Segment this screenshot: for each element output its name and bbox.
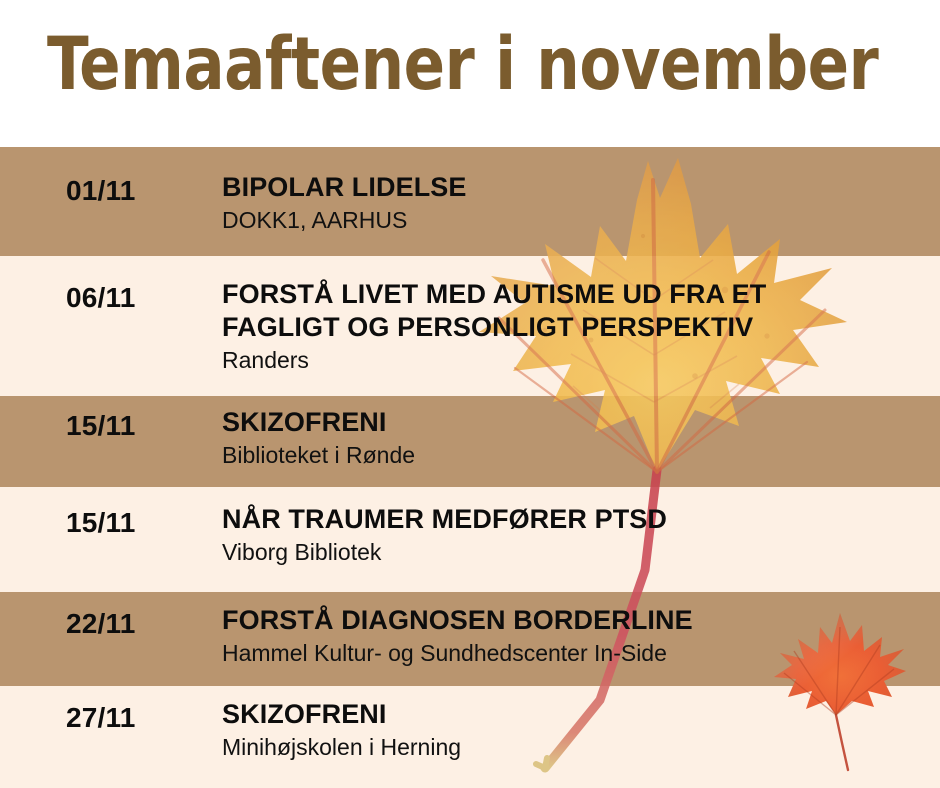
event-place: Viborg Bibliotek: [222, 538, 930, 567]
event-info: FORSTÅ LIVET MED AUTISME UD FRA ET FAGLI…: [222, 278, 930, 375]
event-date: 01/11: [66, 175, 136, 207]
list-item[interactable]: 22/11 FORSTÅ DIAGNOSEN BORDERLINE Hammel…: [0, 592, 940, 686]
event-title: FORSTÅ LIVET MED AUTISME UD FRA ET FAGLI…: [222, 278, 930, 344]
poster: Temaaftener i november 01/11 BIPOLAR LID…: [0, 0, 940, 788]
event-place: Minihøjskolen i Herning: [222, 733, 930, 762]
event-date: 15/11: [66, 410, 136, 442]
event-title: SKIZOFRENI: [222, 406, 930, 439]
page-title: Temaaftener i november: [47, 28, 878, 101]
event-info: FORSTÅ DIAGNOSEN BORDERLINE Hammel Kultu…: [222, 604, 930, 668]
list-item[interactable]: 15/11 SKIZOFRENI Biblioteket i Rønde: [0, 396, 940, 487]
event-date: 22/11: [66, 608, 136, 640]
event-date: 15/11: [66, 507, 136, 539]
event-title: NÅR TRAUMER MEDFØRER PTSD: [222, 503, 930, 536]
event-date: 06/11: [66, 282, 136, 314]
event-place: Randers: [222, 346, 930, 375]
event-date: 27/11: [66, 702, 136, 734]
event-title: SKIZOFRENI: [222, 698, 930, 731]
event-info: NÅR TRAUMER MEDFØRER PTSD Viborg Bibliot…: [222, 503, 930, 567]
event-info: SKIZOFRENI Minihøjskolen i Herning: [222, 698, 930, 762]
event-info: SKIZOFRENI Biblioteket i Rønde: [222, 406, 930, 470]
list-item[interactable]: 27/11 SKIZOFRENI Minihøjskolen i Herning: [0, 686, 940, 788]
event-place: Hammel Kultur- og Sundhedscenter In-Side: [222, 639, 930, 668]
list-item[interactable]: 06/11 FORSTÅ LIVET MED AUTISME UD FRA ET…: [0, 256, 940, 396]
list-item[interactable]: 01/11 BIPOLAR LIDELSE DOKK1, AARHUS: [0, 147, 940, 256]
event-title: FORSTÅ DIAGNOSEN BORDERLINE: [222, 604, 930, 637]
poster-header: Temaaftener i november: [0, 0, 940, 147]
event-title: BIPOLAR LIDELSE: [222, 171, 930, 204]
list-item[interactable]: 15/11 NÅR TRAUMER MEDFØRER PTSD Viborg B…: [0, 487, 940, 592]
event-place: DOKK1, AARHUS: [222, 206, 930, 235]
event-info: BIPOLAR LIDELSE DOKK1, AARHUS: [222, 171, 930, 235]
event-place: Biblioteket i Rønde: [222, 441, 930, 470]
